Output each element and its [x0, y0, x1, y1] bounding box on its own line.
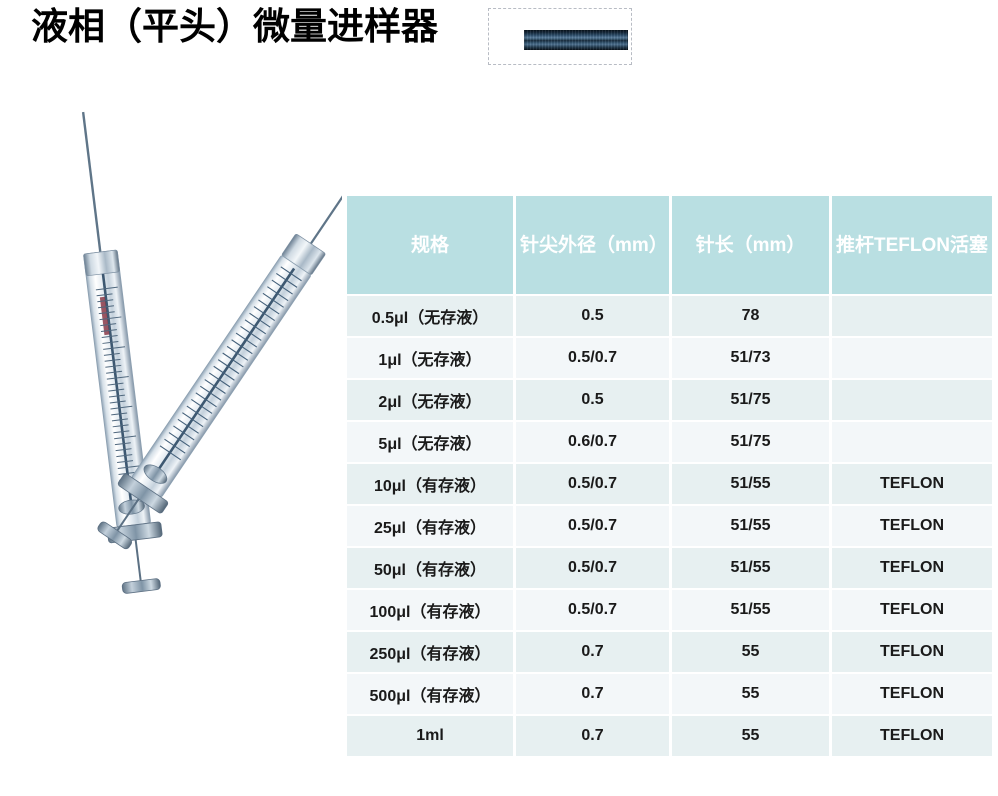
column-header-length: 针长（mm） [672, 196, 829, 294]
cell-plunger: TEFLON [832, 548, 992, 588]
cell-spec: 0.5μl（无存液） [347, 296, 513, 336]
cell-spec: 50μl（有存液） [347, 548, 513, 588]
cell-spec: 1ml [347, 716, 513, 756]
cell-plunger [832, 296, 992, 336]
cell-plunger: TEFLON [832, 506, 992, 546]
cell-spec: 500μl（有存液） [347, 674, 513, 714]
cell-needle-od: 0.5/0.7 [516, 590, 669, 630]
cell-plunger [832, 338, 992, 378]
cell-needle-length: 55 [672, 674, 829, 714]
microsyringe-photo [12, 88, 342, 608]
cell-needle-length: 55 [672, 716, 829, 756]
cell-needle-length: 78 [672, 296, 829, 336]
column-header-od: 针尖外径（mm） [516, 196, 669, 294]
cell-spec: 25μl（有存液） [347, 506, 513, 546]
table-row: 250μl（有存液）0.755TEFLON [347, 632, 992, 672]
table-row: 25μl（有存液）0.5/0.751/55TEFLON [347, 506, 992, 546]
cell-spec: 250μl（有存液） [347, 632, 513, 672]
cell-spec: 10μl（有存液） [347, 464, 513, 504]
cell-spec: 5μl（无存液） [347, 422, 513, 462]
cell-plunger: TEFLON [832, 674, 992, 714]
cell-needle-od: 0.5/0.7 [516, 464, 669, 504]
column-header-plunger: 推杆TEFLON活塞 [832, 196, 992, 294]
cell-needle-length: 51/55 [672, 506, 829, 546]
cell-needle-od: 0.7 [516, 716, 669, 756]
specification-table: 规格 针尖外径（mm） 针长（mm） 推杆TEFLON活塞 0.5μl（无存液）… [344, 194, 995, 758]
cell-needle-od: 0.7 [516, 674, 669, 714]
table-row: 1ml0.755TEFLON [347, 716, 992, 756]
table-header-row: 规格 针尖外径（mm） 针长（mm） 推杆TEFLON活塞 [347, 196, 992, 294]
table-row: 0.5μl（无存液）0.578 [347, 296, 992, 336]
cell-needle-od: 0.5 [516, 296, 669, 336]
table-row: 500μl（有存液）0.755TEFLON [347, 674, 992, 714]
cell-needle-od: 0.6/0.7 [516, 422, 669, 462]
cell-needle-od: 0.5 [516, 380, 669, 420]
cell-plunger [832, 380, 992, 420]
cell-spec: 1μl（无存液） [347, 338, 513, 378]
table-row: 100μl（有存液）0.5/0.751/55TEFLON [347, 590, 992, 630]
cell-needle-od: 0.7 [516, 632, 669, 672]
cell-needle-od: 0.5/0.7 [516, 548, 669, 588]
cell-plunger: TEFLON [832, 464, 992, 504]
table-row: 2μl（无存液）0.551/75 [347, 380, 992, 420]
cell-needle-length: 55 [672, 632, 829, 672]
cell-plunger: TEFLON [832, 590, 992, 630]
table-row: 50μl（有存液）0.5/0.751/55TEFLON [347, 548, 992, 588]
table-row: 1μl（无存液）0.5/0.751/73 [347, 338, 992, 378]
cell-plunger: TEFLON [832, 716, 992, 756]
cell-needle-length: 51/55 [672, 590, 829, 630]
cell-needle-length: 51/55 [672, 548, 829, 588]
cell-plunger: TEFLON [832, 632, 992, 672]
cell-needle-od: 0.5/0.7 [516, 338, 669, 378]
cell-plunger [832, 422, 992, 462]
needle-rod-thumbnail [488, 8, 632, 65]
page-title: 液相（平头）微量进样器 [31, 6, 438, 50]
column-header-spec: 规格 [347, 196, 513, 294]
cell-spec: 2μl（无存液） [347, 380, 513, 420]
cell-spec: 100μl（有存液） [347, 590, 513, 630]
cell-needle-length: 51/75 [672, 380, 829, 420]
cell-needle-length: 51/55 [672, 464, 829, 504]
needle-rod-icon [524, 30, 628, 50]
cell-needle-length: 51/75 [672, 422, 829, 462]
table-row: 5μl（无存液）0.6/0.751/75 [347, 422, 992, 462]
table-row: 10μl（有存液）0.5/0.751/55TEFLON [347, 464, 992, 504]
cell-needle-od: 0.5/0.7 [516, 506, 669, 546]
cell-needle-length: 51/73 [672, 338, 829, 378]
